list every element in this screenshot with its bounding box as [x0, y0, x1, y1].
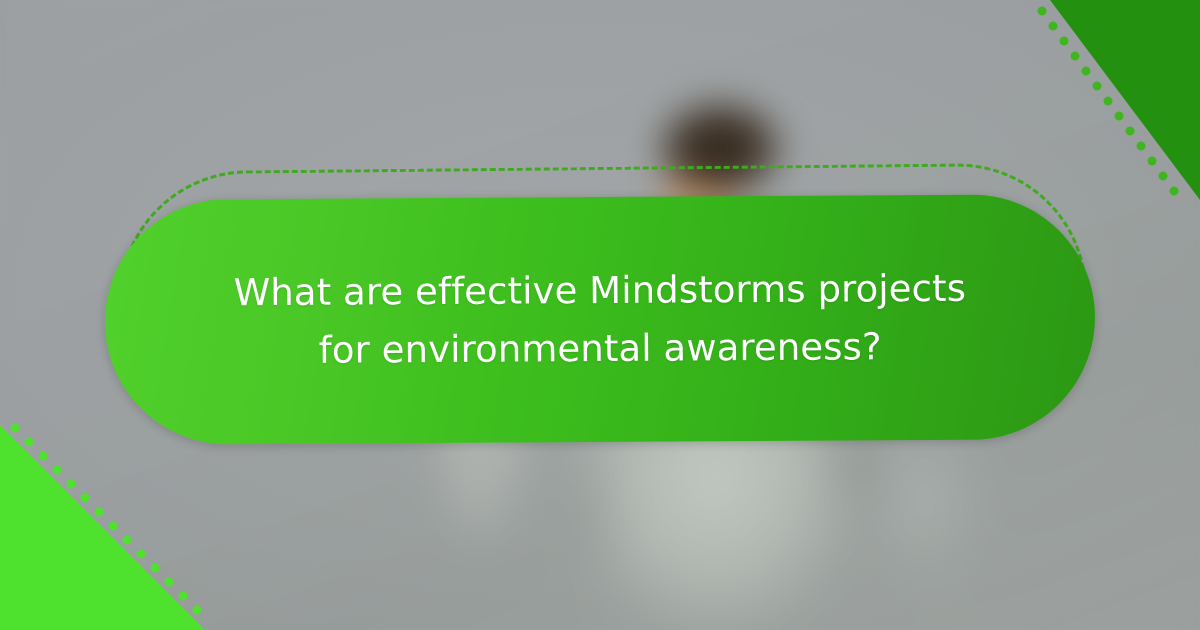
question-text: What are effective Mindstorms projects f… — [220, 259, 981, 380]
question-card: What are effective Mindstorms projects f… — [104, 194, 1095, 445]
triangle-dotted-bottom-left — [0, 415, 230, 630]
corner-triangle-shape — [0, 425, 205, 630]
screenshot-canvas: What are effective Mindstorms projects f… — [0, 0, 1200, 630]
triangle-dotted-top-right — [1000, 0, 1200, 200]
corner-triangle-shape — [1050, 0, 1200, 200]
question-card-group: What are effective Mindstorms projects f… — [105, 175, 1105, 445]
